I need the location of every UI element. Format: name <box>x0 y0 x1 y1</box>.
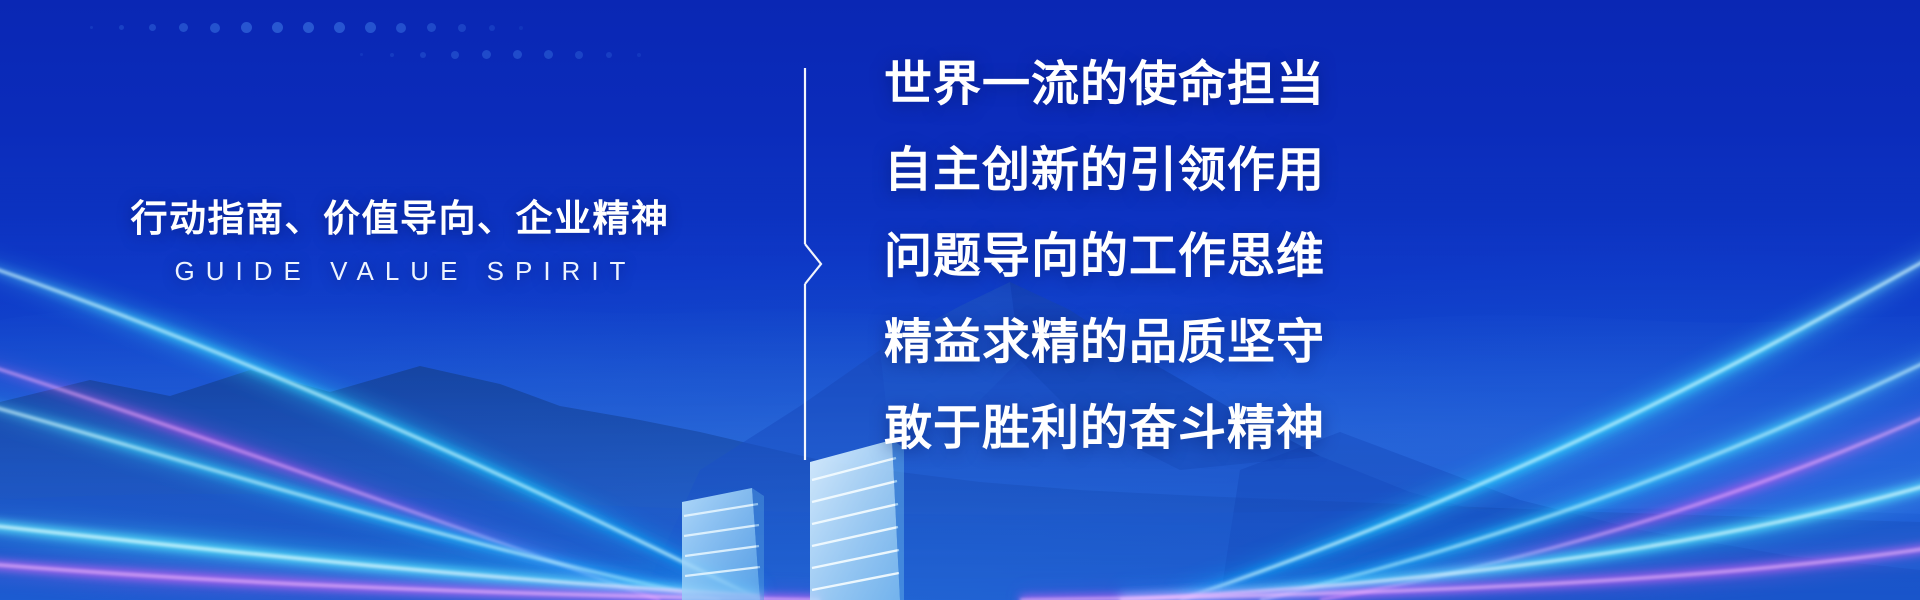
principle-line-2: 自主创新的引领作用 <box>884 128 1404 214</box>
section-divider <box>803 68 825 460</box>
slogan-subtitle-english: GUIDE VALUE SPIRIT <box>0 256 800 287</box>
corporate-culture-banner: 行动指南、价值导向、企业精神 GUIDE VALUE SPIRIT 世界一流的使… <box>0 0 1920 600</box>
halftone-dots-pattern <box>90 8 710 64</box>
dot-row <box>360 50 641 59</box>
dot-row <box>90 22 523 33</box>
principle-line-1: 世界一流的使命担当 <box>884 42 1404 128</box>
principles-right-block: 世界一流的使命担当 自主创新的引领作用 问题导向的工作思维 精益求精的品质坚守 … <box>884 42 1404 472</box>
principle-line-5: 敢于胜利的奋斗精神 <box>884 386 1404 472</box>
slogan-title: 行动指南、价值导向、企业精神 <box>0 196 800 242</box>
principle-line-4: 精益求精的品质坚守 <box>884 300 1404 386</box>
principle-line-3: 问题导向的工作思维 <box>884 214 1404 300</box>
slogan-left-block: 行动指南、价值导向、企业精神 GUIDE VALUE SPIRIT <box>0 196 800 287</box>
chevron-divider-icon <box>803 68 825 460</box>
